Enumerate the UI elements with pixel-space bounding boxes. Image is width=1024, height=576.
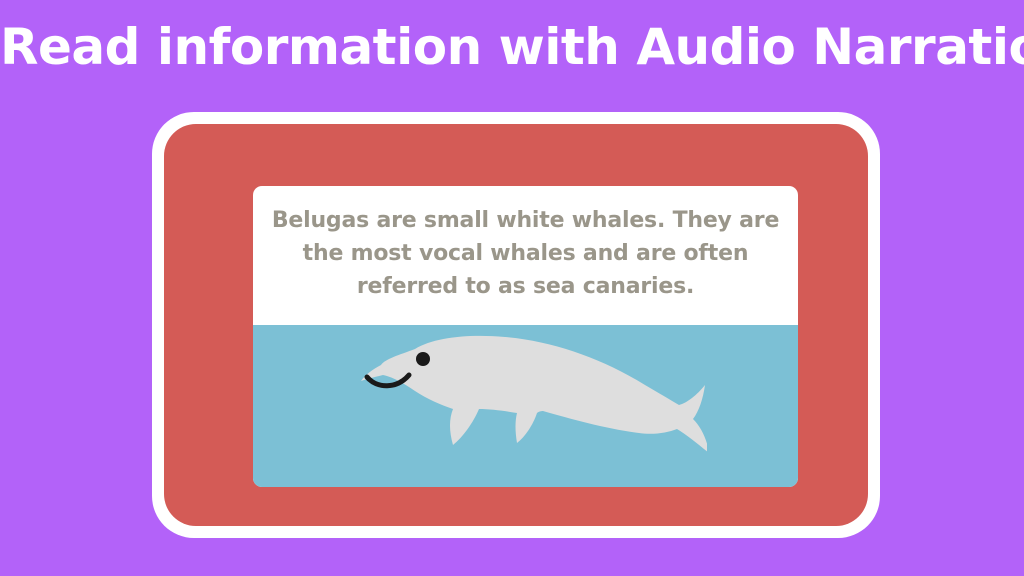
slide-canvas: Read information with Audio Narrations B…	[0, 0, 1024, 576]
page-title: Read information with Audio Narrations	[0, 20, 1024, 75]
narration-content-panel: Belugas are small white whales. They are…	[253, 186, 798, 487]
water-background	[253, 325, 798, 487]
narration-text: Belugas are small white whales. They are…	[253, 204, 798, 303]
narration-card: Belugas are small white whales. They are…	[152, 112, 880, 538]
beluga-whale-icon	[357, 333, 707, 483]
narration-card-frame: Belugas are small white whales. They are…	[164, 124, 868, 526]
